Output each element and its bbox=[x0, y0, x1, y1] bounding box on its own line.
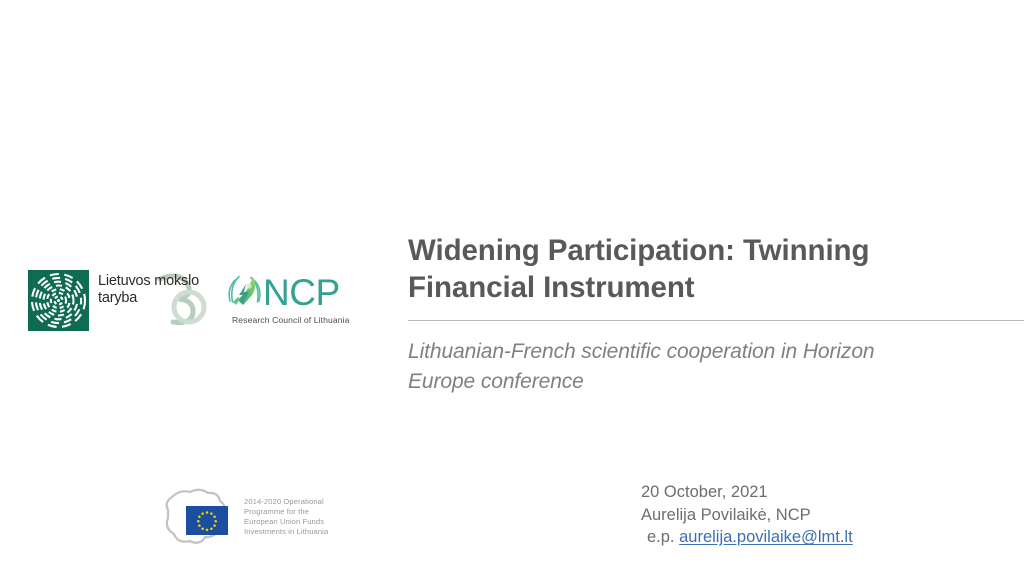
research-council-logo: Lietuvos mokslo taryba bbox=[28, 270, 206, 331]
ncp-tagline: Research Council of Lithuania bbox=[232, 315, 364, 325]
footer-info: 20 October, 2021 Aurelija Povilaikė, NCP… bbox=[641, 481, 853, 549]
rocket-lightning-icon bbox=[225, 272, 265, 313]
title-divider bbox=[408, 320, 1024, 321]
presenter-name: Aurelija Povilaikė, NCP bbox=[641, 504, 853, 527]
slide-subtitle: Lithuanian-French scientific cooperation… bbox=[408, 337, 1008, 397]
ncp-letters: NCP bbox=[263, 274, 340, 311]
research-council-name: Lietuvos mokslo taryba bbox=[98, 273, 206, 307]
ncp-logo: NCP Research Council of Lithuania bbox=[225, 272, 364, 330]
eu-funding-text: 2014-2020 Operational Programme for the … bbox=[244, 497, 328, 538]
research-council-wordmark: Lietuvos mokslo taryba bbox=[98, 273, 206, 331]
slide-title: Widening Participation: Twinning Financi… bbox=[408, 232, 1008, 306]
title-block: Widening Participation: Twinning Financi… bbox=[408, 232, 1008, 397]
lithuania-map-outline-icon bbox=[160, 484, 238, 550]
presenter-email-line: e.p. aurelija.povilaike@lmt.lt bbox=[641, 526, 853, 549]
eu-funding-logo: 2014-2020 Operational Programme for the … bbox=[160, 484, 328, 550]
presentation-slide: Lietuvos mokslo taryba bbox=[0, 0, 1024, 576]
presentation-date: 20 October, 2021 bbox=[641, 481, 853, 504]
presenter-email-link[interactable]: aurelija.povilaike@lmt.lt bbox=[679, 528, 853, 546]
concentric-rosette-icon bbox=[28, 270, 89, 331]
eu-flag-icon bbox=[186, 506, 228, 535]
email-prefix-label: e.p. bbox=[647, 528, 679, 546]
header-logo-row: Lietuvos mokslo taryba bbox=[28, 270, 364, 331]
